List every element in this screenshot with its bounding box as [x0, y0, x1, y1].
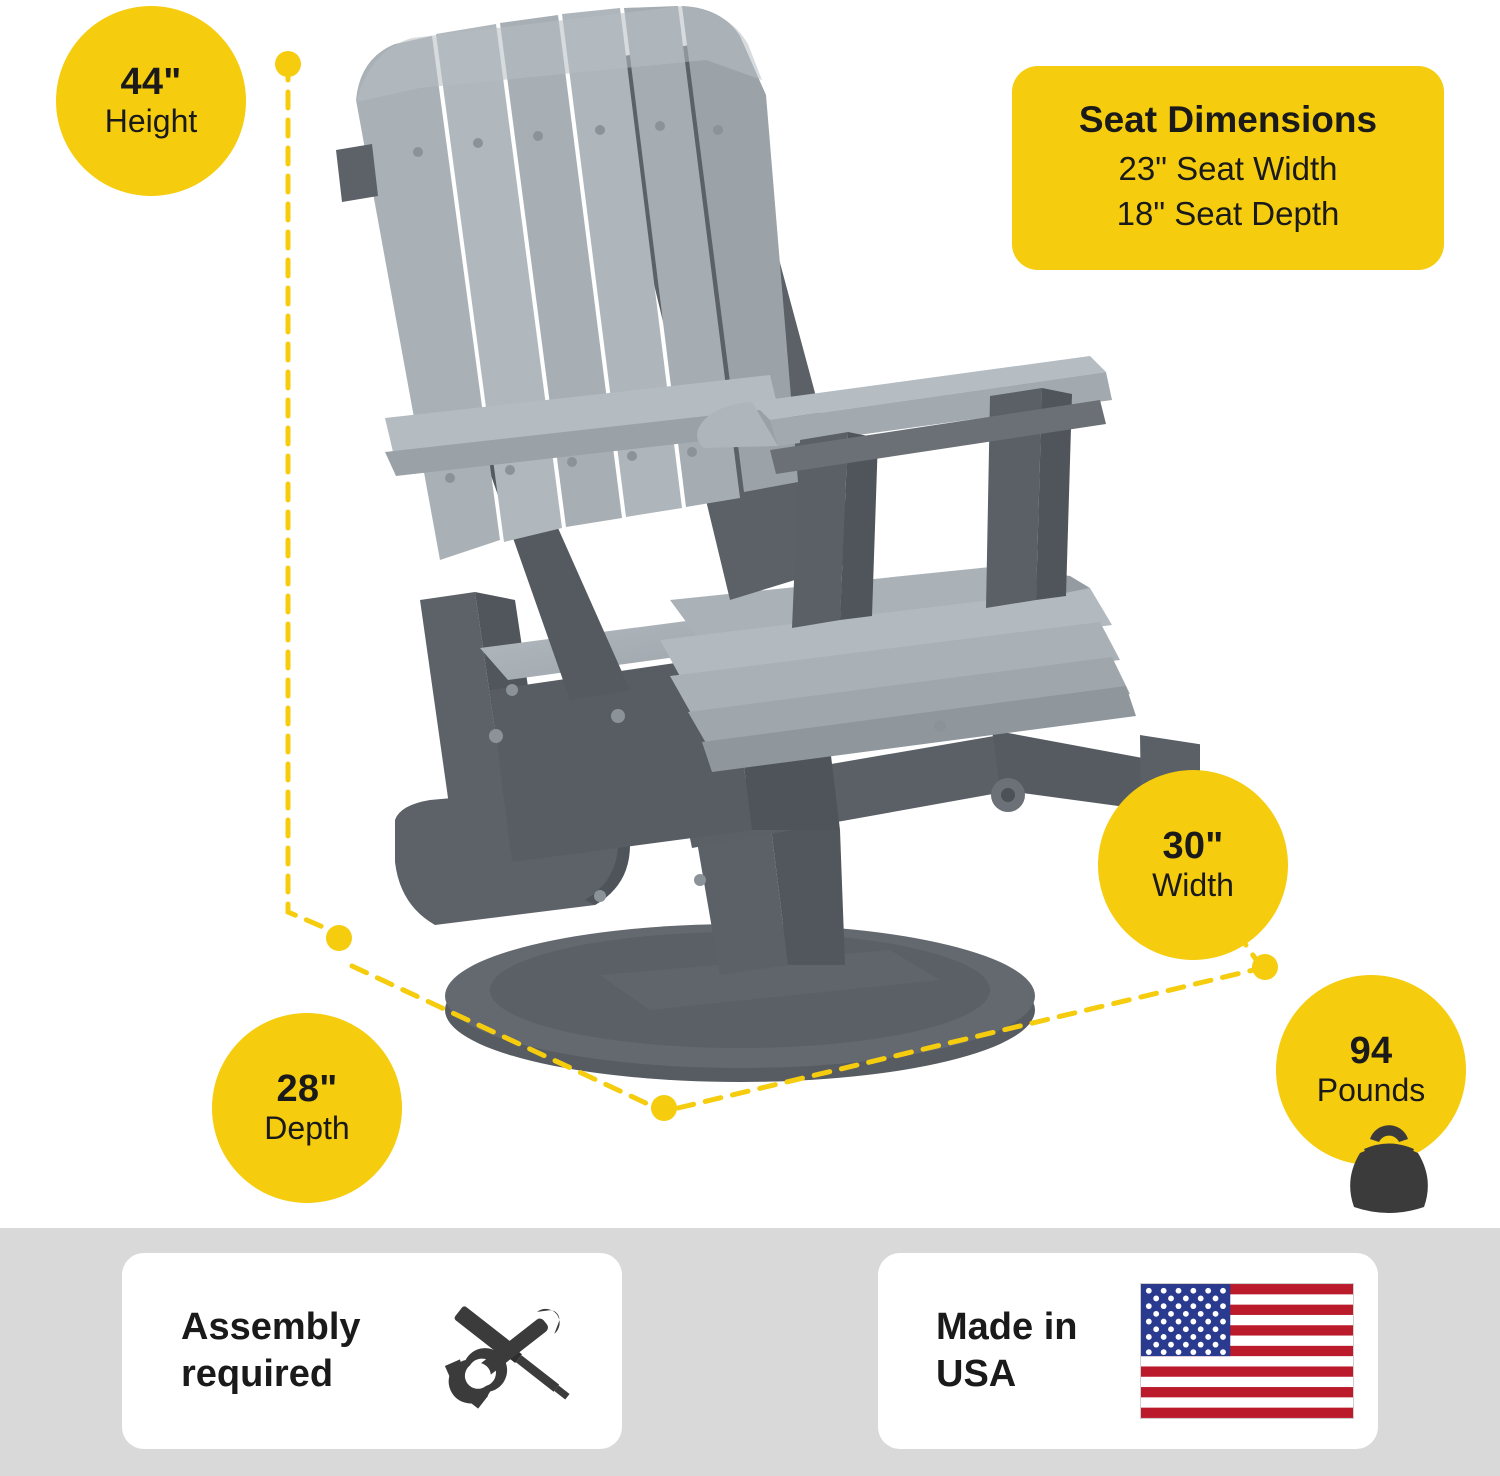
callout-depth-value: 28" [277, 1070, 338, 1110]
kettlebell-icon [1330, 1117, 1448, 1221]
seat-depth-line: 18" Seat Depth [1117, 192, 1340, 237]
callout-depth: 28" Depth [212, 1013, 402, 1203]
callout-weight-value: 94 [1350, 1032, 1393, 1072]
assembly-required-pill: Assembly required [122, 1253, 622, 1449]
callout-width-label: Width [1152, 869, 1234, 903]
usa-line-2: USA [936, 1351, 1126, 1399]
usa-flag-icon [1140, 1283, 1354, 1419]
callout-width-value: 30" [1163, 827, 1224, 867]
callout-height: 44" Height [56, 6, 246, 196]
made-in-usa-pill: Made in USA [878, 1253, 1378, 1449]
callout-height-label: Height [105, 105, 198, 139]
usa-line-1: Made in [936, 1304, 1126, 1352]
infographic-canvas: 44" Height 30" Width 28" Depth 94 Pounds… [0, 0, 1500, 1476]
seat-width-line: 23" Seat Width [1119, 147, 1338, 192]
callout-weight-label: Pounds [1317, 1074, 1426, 1108]
callout-width: 30" Width [1098, 770, 1288, 960]
assembly-line-1: Assembly [181, 1304, 413, 1352]
callout-depth-label: Depth [264, 1112, 349, 1146]
seat-dimensions-title: Seat Dimensions [1079, 99, 1377, 141]
seat-dimensions-box: Seat Dimensions 23" Seat Width 18" Seat … [1012, 66, 1444, 270]
callout-height-value: 44" [121, 63, 182, 103]
assembly-line-2: required [181, 1351, 413, 1399]
assembly-required-text: Assembly required [181, 1304, 413, 1399]
tools-icon [423, 1276, 593, 1426]
made-in-usa-text: Made in USA [936, 1304, 1126, 1399]
